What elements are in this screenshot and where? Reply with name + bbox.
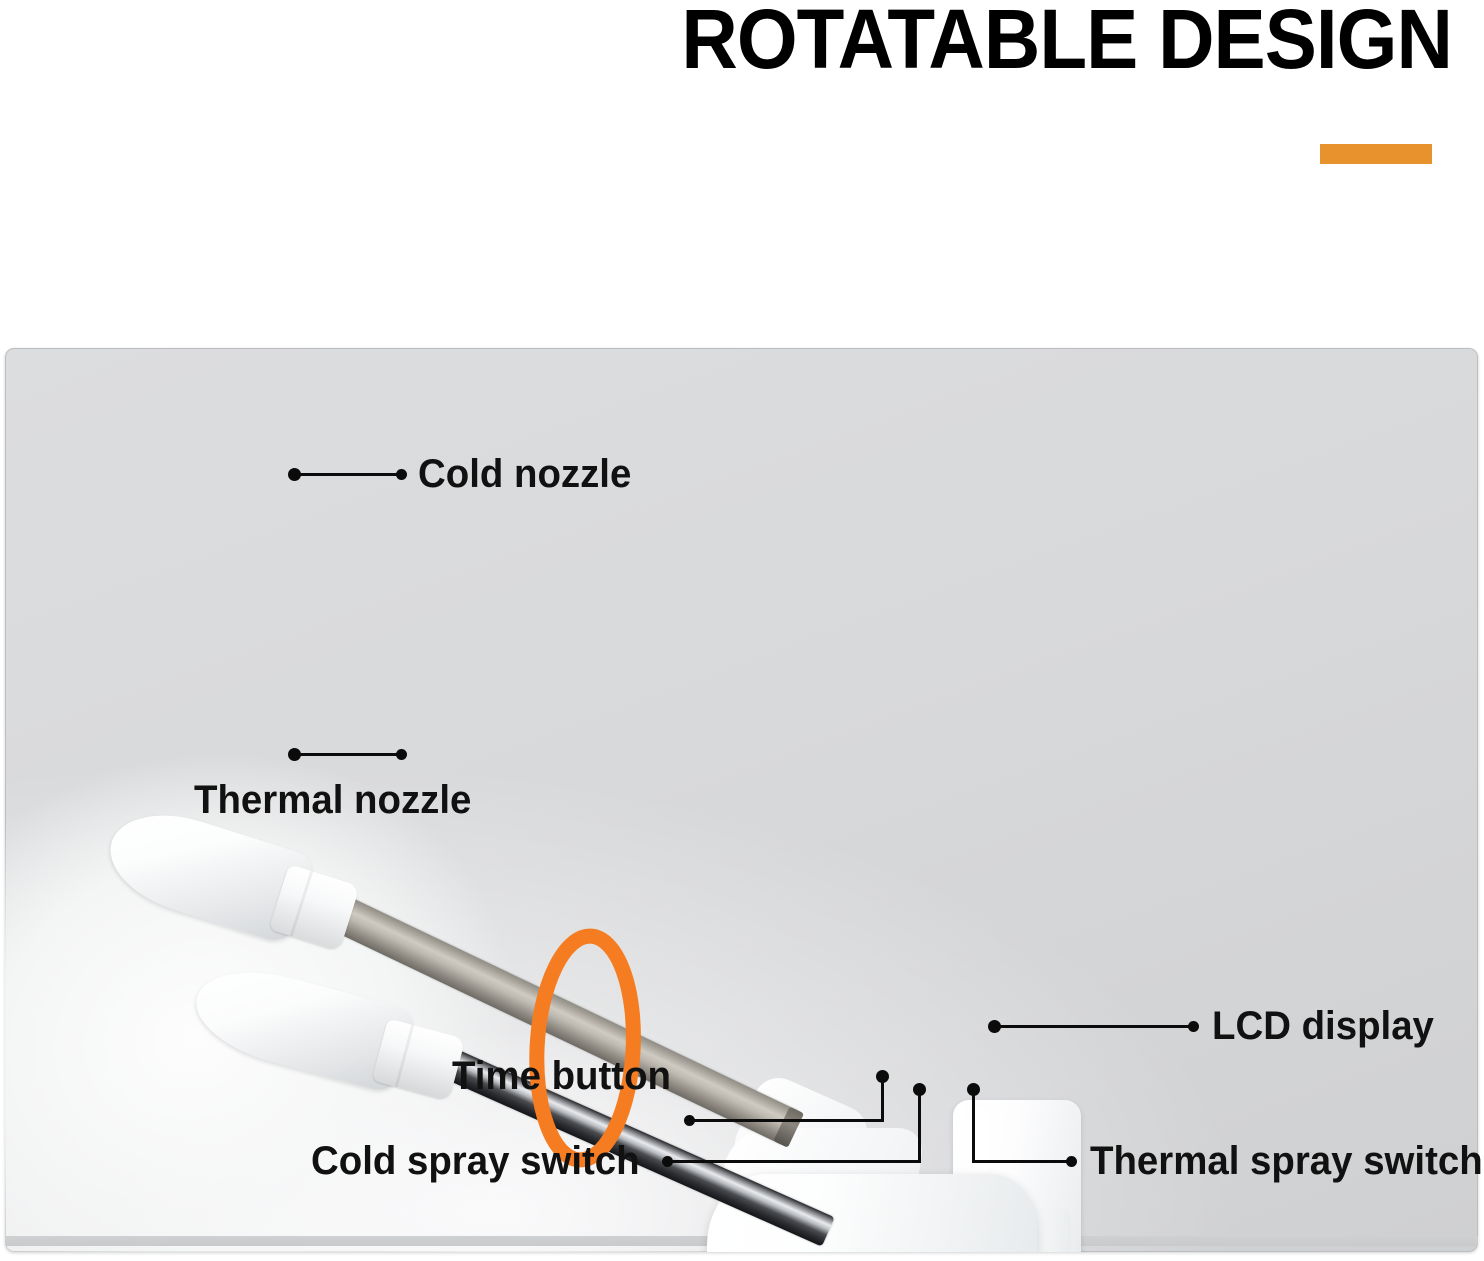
- thermal-nozzle-label-dot: [396, 749, 407, 760]
- cold-nozzle-label-dot: [396, 469, 407, 480]
- callout-cold-nozzle: Cold nozzle: [418, 452, 631, 496]
- page-title: ROTATABLE DESIGN: [102, 0, 1452, 82]
- thermal-spray-leader-v: [972, 1089, 975, 1163]
- cold-nozzle-leader: [294, 473, 402, 476]
- callout-thermal-nozzle: Thermal nozzle: [194, 778, 471, 822]
- callout-lcd-display: LCD display: [1212, 1004, 1434, 1048]
- thermal-spray-label-dot: [1066, 1156, 1077, 1167]
- callout-cold-spray-switch: Cold spray switch: [311, 1139, 640, 1183]
- cold-spray-label-dot: [662, 1156, 673, 1167]
- callout-time-button: Time button: [452, 1054, 671, 1098]
- accent-bar: [1320, 144, 1432, 164]
- lcd-label-dot: [1188, 1021, 1199, 1032]
- callout-thermal-spray-switch: Thermal spray switch: [1090, 1139, 1483, 1183]
- thermal-spray-leader-h: [972, 1160, 1072, 1163]
- time-button-leader-h: [690, 1119, 884, 1122]
- time-button-label-dot: [684, 1115, 695, 1126]
- cold-spray-leader-v: [918, 1089, 921, 1163]
- lcd-leader: [994, 1025, 1192, 1028]
- time-button-leader-v: [881, 1076, 884, 1122]
- cold-spray-leader-h: [668, 1160, 921, 1163]
- thermal-nozzle-leader: [294, 753, 402, 756]
